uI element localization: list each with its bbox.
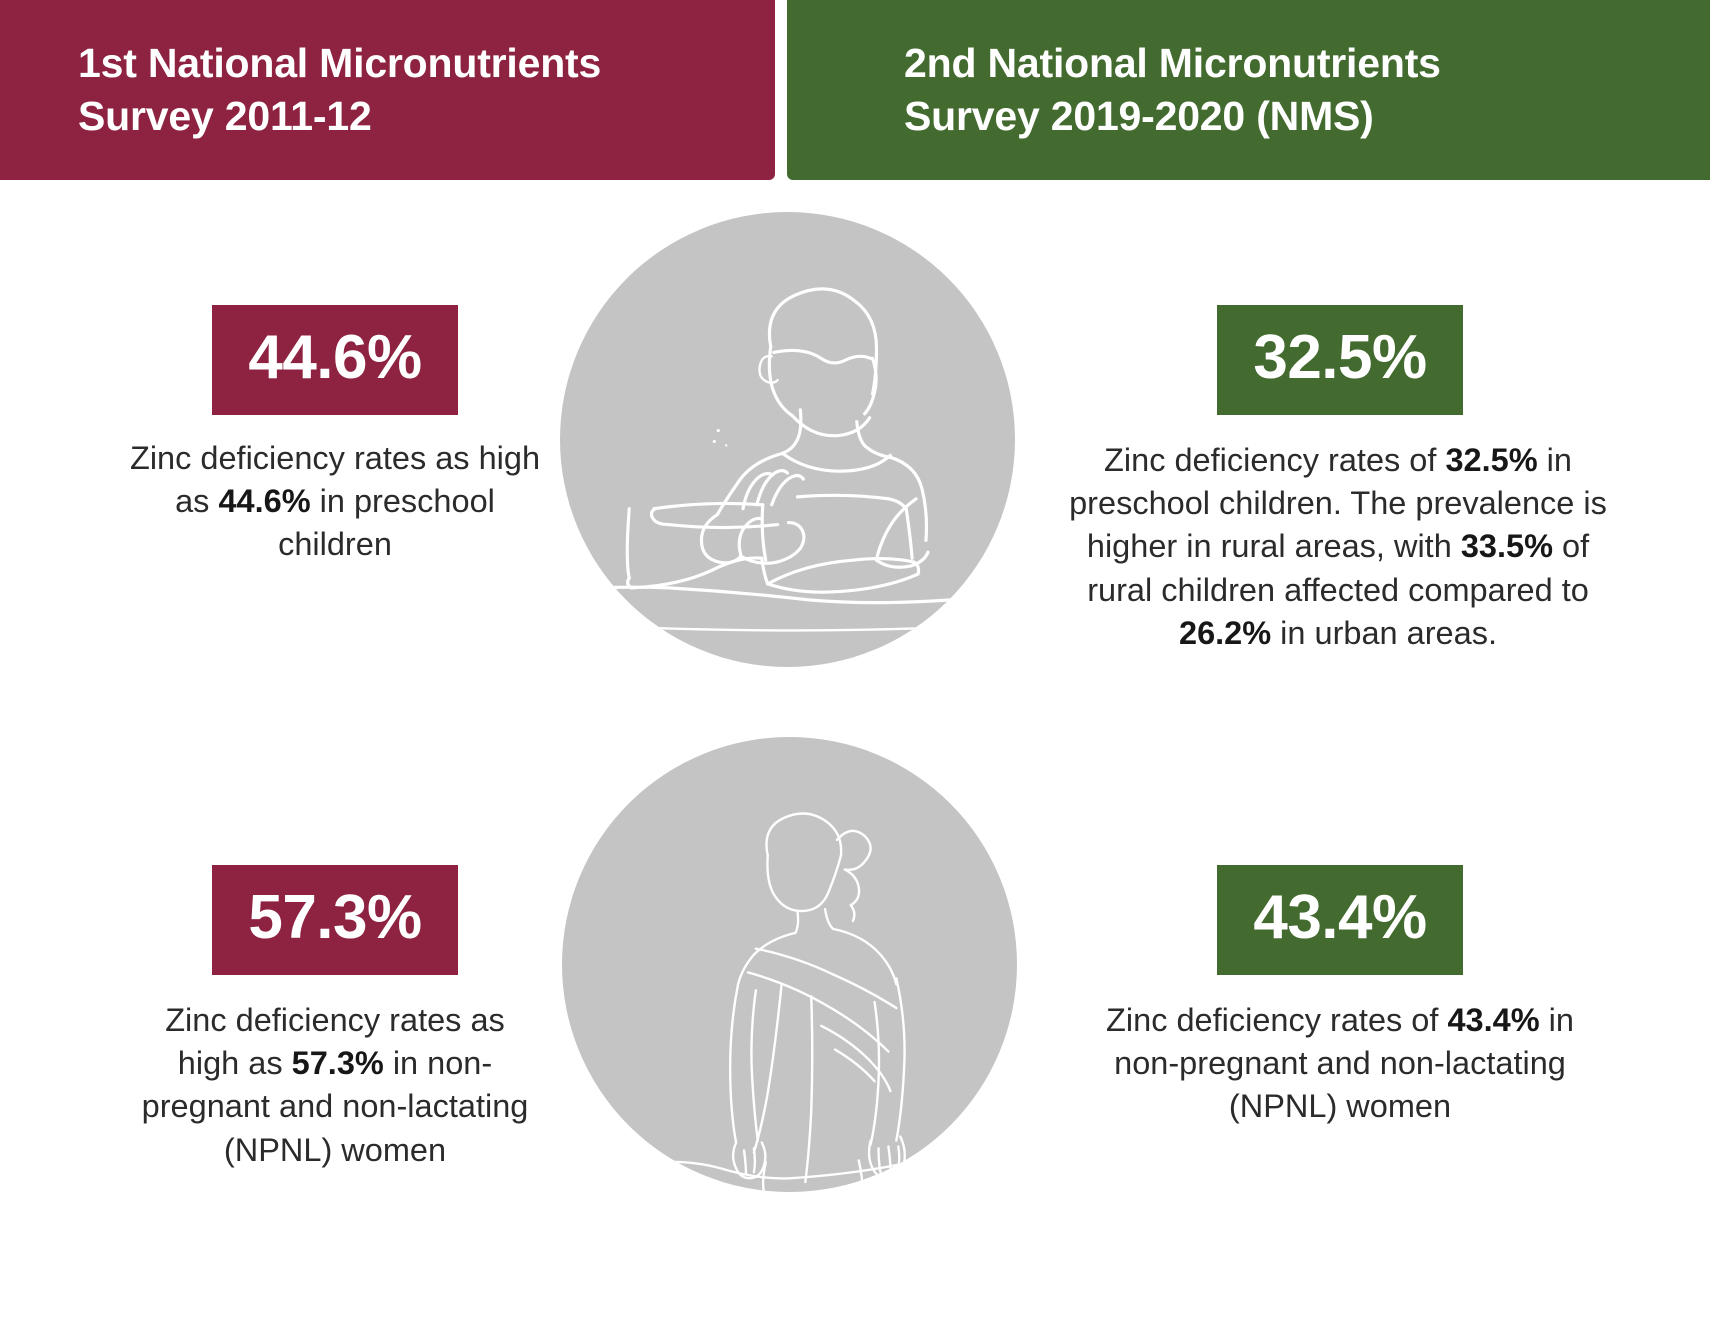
infographic-page: 1st National Micronutrients Survey 2011-…	[0, 0, 1710, 1340]
stat-block-women-2011: 57.3% Zinc deficiency rates as high as 5…	[120, 865, 550, 1340]
stat-block-women-2019: 43.4% Zinc deficiency rates of 43.4% in …	[1090, 865, 1590, 1340]
stat-caption-women-2011: Zinc deficiency rates as high as 57.3% i…	[135, 999, 535, 1172]
stat-caption-women-2019: Zinc deficiency rates of 43.4% in non-pr…	[1090, 999, 1590, 1129]
stat-caption-children-2019: Zinc deficiency rates of 32.5% in presch…	[1058, 439, 1618, 655]
stat-caption-children-2011: Zinc deficiency rates as high as 44.6% i…	[129, 437, 541, 567]
header-survey-2019-title: 2nd National Micronutrients Survey 2019-…	[787, 37, 1471, 144]
stats-row-preschool-children: 44.6% Zinc deficiency rates as high as 4…	[0, 180, 1710, 740]
header-survey-2019: 2nd National Micronutrients Survey 2019-…	[787, 0, 1710, 180]
stat-value-women-2011: 57.3%	[212, 865, 457, 975]
stat-value-children-2019: 32.5%	[1217, 305, 1462, 415]
header-survey-2011-title: 1st National Micronutrients Survey 2011-…	[0, 37, 631, 144]
stats-row-npnl-women: 57.3% Zinc deficiency rates as high as 5…	[0, 740, 1710, 1340]
header-row: 1st National Micronutrients Survey 2011-…	[0, 0, 1710, 180]
stat-value-women-2019: 43.4%	[1217, 865, 1462, 975]
stat-value-children-2011: 44.6%	[212, 305, 457, 415]
header-survey-2011: 1st National Micronutrients Survey 2011-…	[0, 0, 775, 180]
